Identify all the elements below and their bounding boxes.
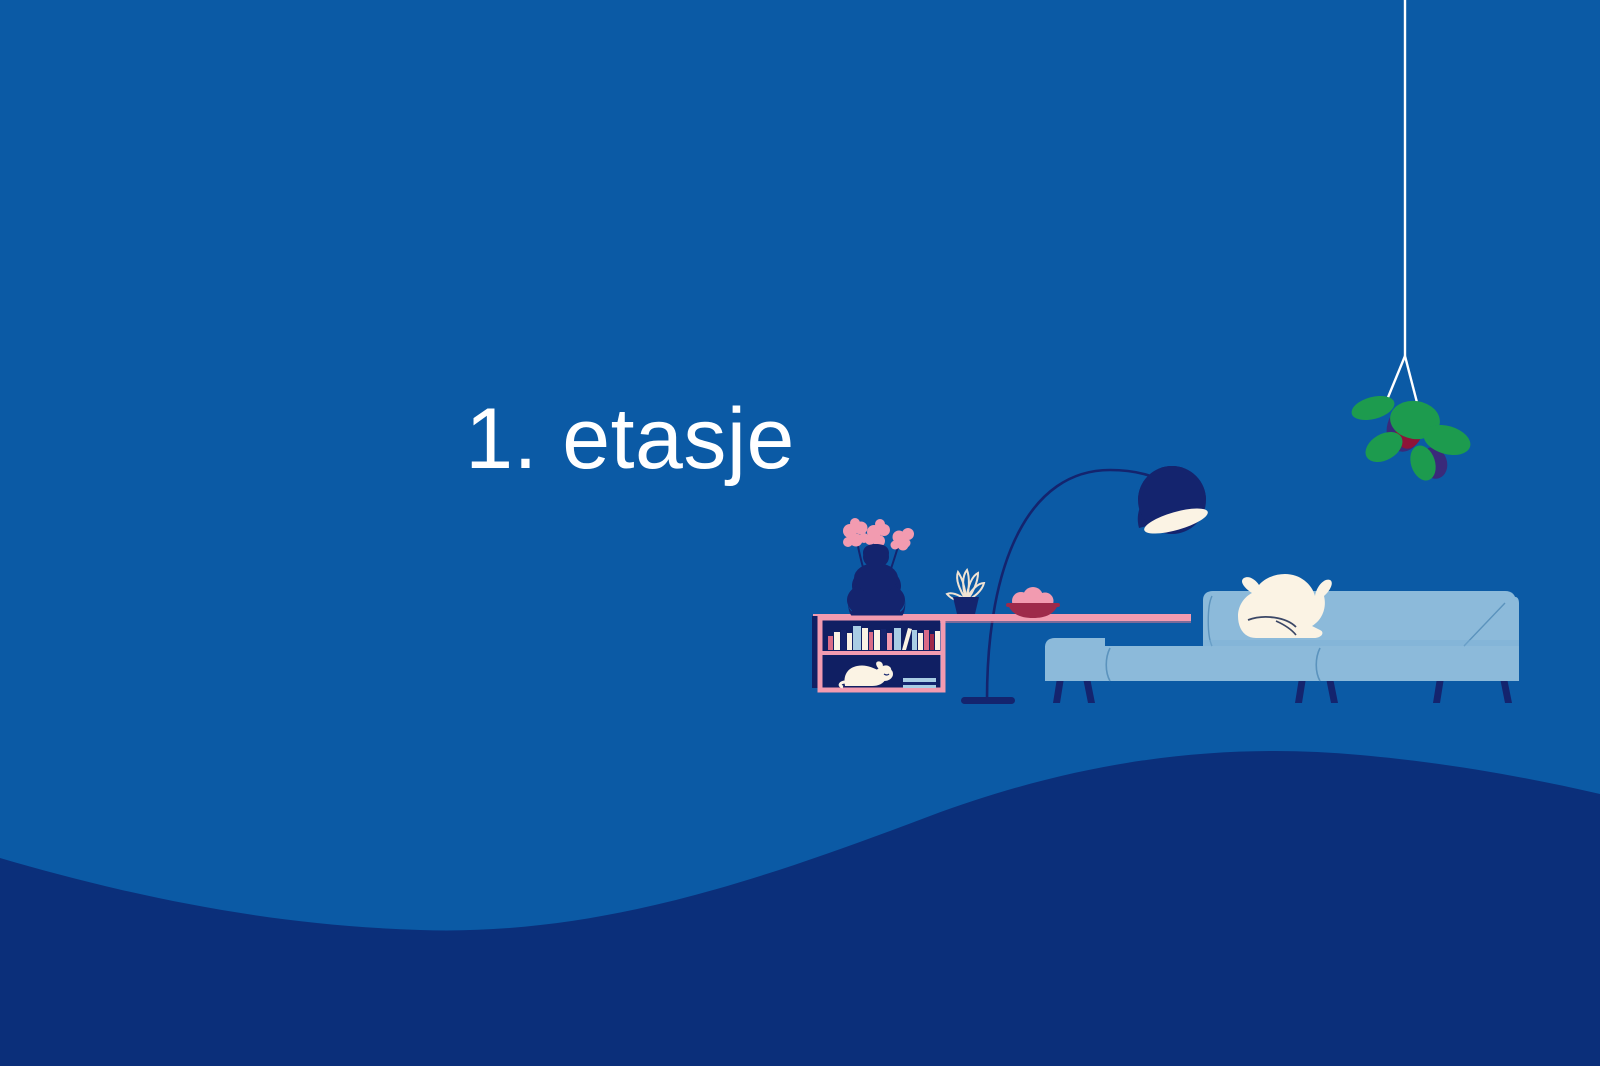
bookshelf [812, 616, 943, 690]
illustration-canvas: 1. etasje [0, 0, 1600, 1066]
lamp-base [961, 697, 1015, 704]
potted-plant-pot [953, 597, 979, 614]
vase-foot [852, 598, 900, 618]
page-title: 1. etasje [0, 392, 1430, 487]
scene-illustration [0, 0, 1600, 1066]
bookshelf-middle-divider [820, 651, 943, 655]
stacked-books [903, 678, 936, 688]
fruit-bowl-rim [1006, 603, 1060, 607]
vase-neck [863, 546, 889, 568]
sofa-seat-rounded-left [1045, 646, 1065, 681]
sofa-seat [1045, 646, 1519, 681]
sofa-backrest-top-edge [1203, 640, 1519, 646]
